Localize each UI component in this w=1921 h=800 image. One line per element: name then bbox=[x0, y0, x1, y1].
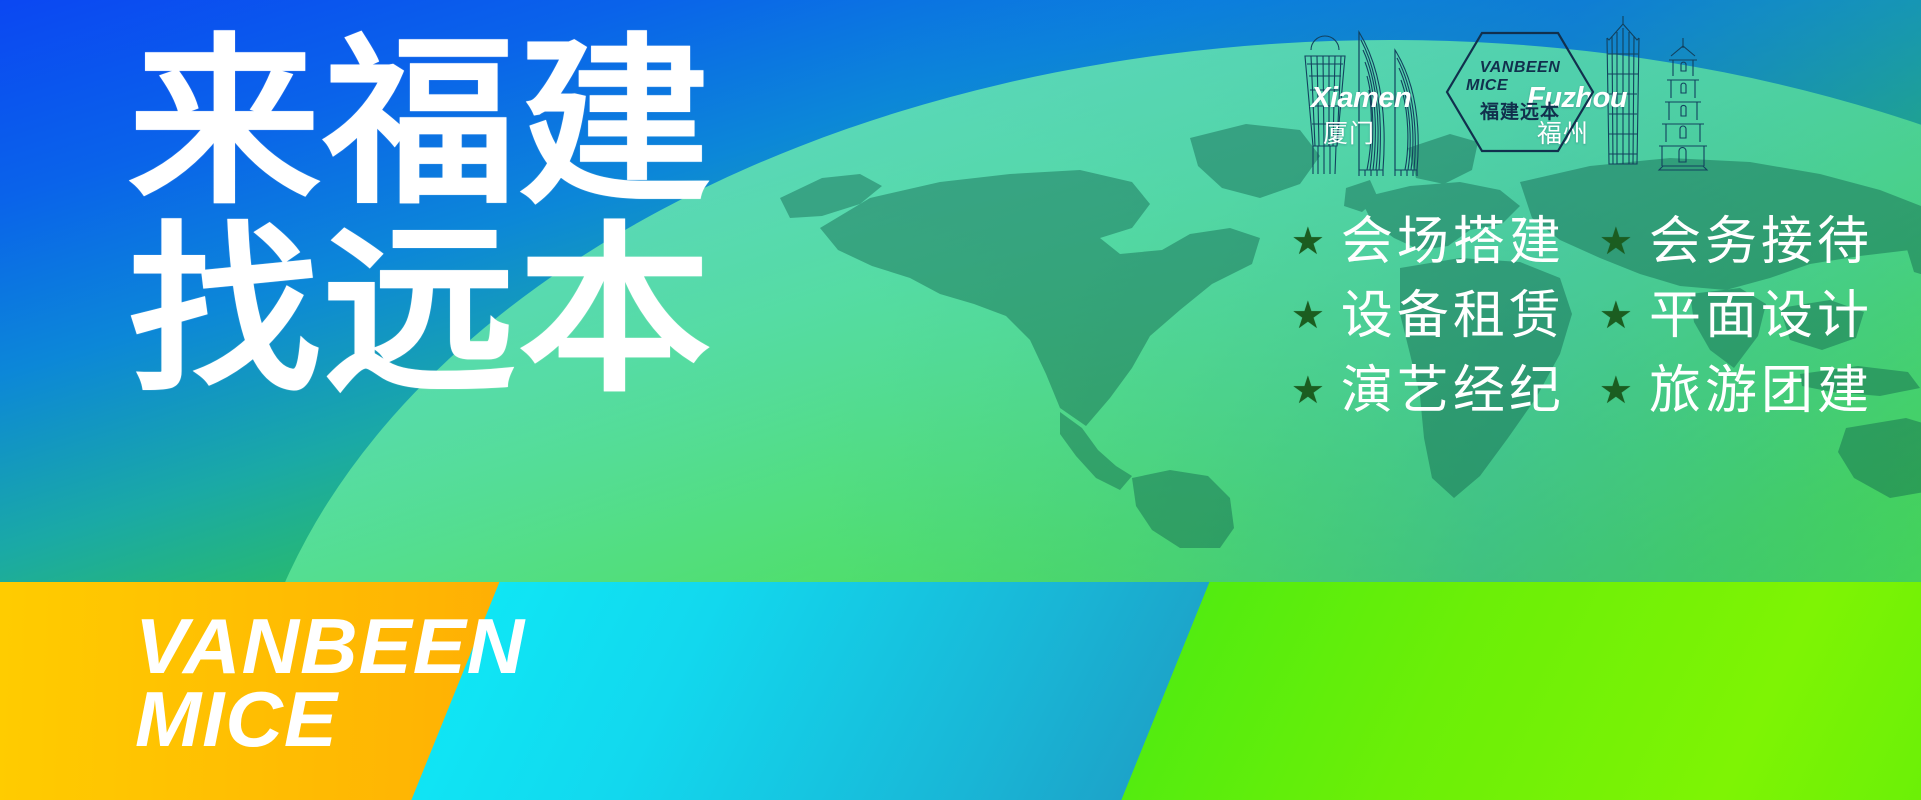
service-label: 会场搭建 bbox=[1341, 212, 1565, 272]
hexagon-brand-cn: 福建远本 bbox=[1480, 97, 1560, 124]
service-item: ★ 会务接待 bbox=[1599, 212, 1873, 272]
bottom-brand-line-1: VANBEEN bbox=[135, 610, 525, 683]
hexagon-brand-line-2: MICE bbox=[1466, 78, 1508, 95]
bottom-brand-line-2: MICE bbox=[135, 683, 525, 756]
xiamen-name-cn: 厦门 bbox=[1323, 114, 1375, 150]
service-item: ★ 平面设计 bbox=[1599, 286, 1873, 346]
services-list: ★ 会场搭建 ★ 会务接待 ★ 设备租赁 ★ 平面设计 bbox=[1291, 212, 1873, 421]
banner-main-area: 来福建 找远本 ★ 会场搭建 ★ 会务接待 ★ 设备租赁 bbox=[0, 0, 1921, 582]
headline-line-1: 来福建 bbox=[128, 34, 713, 212]
city-badge: Xiamen 厦门 Fuzhou 福州 VANBEEN MICE 福建远本 bbox=[1303, 6, 1723, 176]
star-icon: ★ bbox=[1599, 223, 1633, 261]
star-icon: ★ bbox=[1599, 372, 1633, 410]
service-label: 演艺经纪 bbox=[1341, 361, 1565, 421]
promotional-banner: 来福建 找远本 ★ 会场搭建 ★ 会务接待 ★ 设备租赁 bbox=[0, 0, 1921, 800]
star-icon: ★ bbox=[1291, 223, 1325, 261]
hexagon-brand-line-1: VANBEEN bbox=[1480, 60, 1561, 77]
bottom-brand-logo: VANBEEN MICE bbox=[135, 610, 518, 757]
headline-line-2: 找远本 bbox=[128, 222, 713, 400]
service-item: ★ 演艺经纪 bbox=[1291, 361, 1565, 421]
hexagon-logo-text: VANBEEN MICE 福建远本 bbox=[1444, 30, 1596, 154]
service-label: 平面设计 bbox=[1649, 286, 1873, 346]
xiamen-name-en: Xiamen bbox=[1311, 82, 1411, 115]
star-icon: ★ bbox=[1291, 372, 1325, 410]
services-row: ★ 演艺经纪 ★ 旅游团建 bbox=[1291, 361, 1873, 421]
green-diagonal-band bbox=[1104, 582, 1921, 800]
headline-block: 来福建 找远本 bbox=[128, 34, 680, 401]
vanbeen-hexagon-logo: VANBEEN MICE 福建远本 bbox=[1444, 30, 1596, 154]
service-label: 设备租赁 bbox=[1341, 286, 1565, 346]
service-item: ★ 旅游团建 bbox=[1599, 361, 1873, 421]
service-item: ★ 设备租赁 bbox=[1291, 286, 1565, 346]
service-label: 旅游团建 bbox=[1649, 361, 1873, 421]
banner-bottom-bar: VANBEEN MICE bbox=[0, 582, 1921, 800]
service-item: ★ 会场搭建 bbox=[1291, 212, 1565, 272]
star-icon: ★ bbox=[1599, 297, 1633, 335]
service-label: 会务接待 bbox=[1649, 212, 1873, 272]
star-icon: ★ bbox=[1291, 297, 1325, 335]
services-row: ★ 会场搭建 ★ 会务接待 bbox=[1291, 212, 1873, 272]
services-row: ★ 设备租赁 ★ 平面设计 bbox=[1291, 286, 1873, 346]
